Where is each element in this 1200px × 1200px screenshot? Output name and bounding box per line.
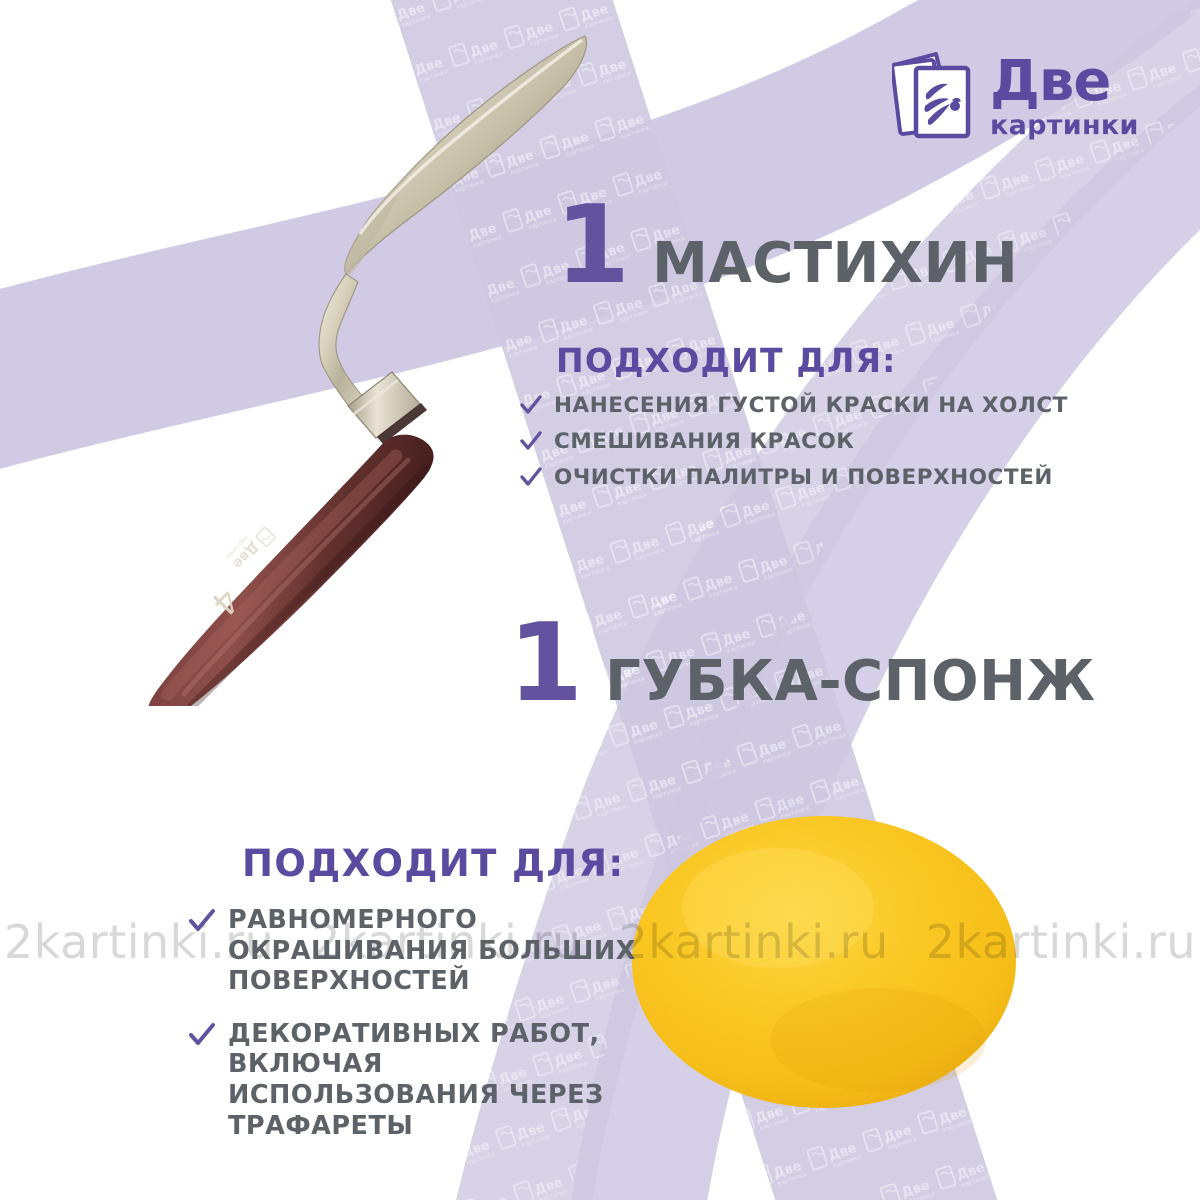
- check-icon: [520, 431, 542, 453]
- list-item: НАНЕСЕНИЯ ГУСТОЙ КРАСКИ НА ХОЛСТ: [520, 394, 1180, 419]
- list-item: ОЧИСТКИ ПАЛИТРЫ И ПОВЕРХНОСТЕЙ: [520, 466, 1180, 491]
- sponge-photo: [628, 812, 1020, 1112]
- poster-canvas: Две картинки: [0, 0, 1200, 1200]
- two-cards-brush-icon: [892, 50, 976, 142]
- brand-title: Две: [990, 54, 1139, 110]
- list-item: СМЕШИВАНИЯ КРАСОК: [520, 430, 1180, 455]
- sponge-shadow: [770, 988, 986, 1092]
- section-heading: 1 МАСТИХИН: [555, 196, 1180, 295]
- list-item-label: СМЕШИВАНИЯ КРАСОК: [554, 430, 854, 455]
- section-sponge-benefits: ПОДХОДИТ ДЛЯ: РАВНОМЕРНОГО ОКРАШИВАНИЯ Б…: [188, 842, 658, 1163]
- section-number: 1: [508, 614, 583, 713]
- section-title: ГУБКА-СПОНЖ: [605, 654, 1095, 710]
- section-mastikhin: 1 МАСТИХИН ПОДХОДИТ ДЛЯ: НАНЕСЕНИЯ ГУСТО…: [520, 196, 1180, 502]
- brand-subtitle: картинки: [990, 112, 1139, 139]
- check-icon: [188, 1022, 216, 1050]
- suitable-for-label: ПОДХОДИТ ДЛЯ:: [242, 842, 658, 885]
- brand-logo: Две картинки: [892, 50, 1139, 142]
- list-item-label: РАВНОМЕРНОГО ОКРАШИВАНИЯ БОЛЬШИХ ПОВЕРХН…: [228, 905, 658, 997]
- check-icon: [188, 908, 216, 936]
- list-item-label: НАНЕСЕНИЯ ГУСТОЙ КРАСКИ НА ХОЛСТ: [554, 394, 1068, 419]
- section-number: 1: [555, 196, 630, 295]
- knife-ferrule: [348, 372, 420, 438]
- section-heading: 1 ГУБКА-СПОНЖ: [508, 614, 1140, 713]
- section-title: МАСТИХИН: [652, 236, 1018, 292]
- section-sponge-heading: 1 ГУБКА-СПОНЖ: [500, 614, 1140, 713]
- check-icon: [520, 395, 542, 417]
- check-icon: [520, 467, 542, 489]
- sponge-highlight: [682, 848, 874, 968]
- list-item: РАВНОМЕРНОГО ОКРАШИВАНИЯ БОЛЬШИХ ПОВЕРХН…: [188, 905, 658, 997]
- suitable-for-label: ПОДХОДИТ ДЛЯ:: [556, 341, 1180, 380]
- list-item-label: ОЧИСТКИ ПАЛИТРЫ И ПОВЕРХНОСТЕЙ: [554, 466, 1053, 491]
- benefit-list: НАНЕСЕНИЯ ГУСТОЙ КРАСКИ НА ХОЛСТ СМЕШИВА…: [520, 394, 1180, 490]
- list-item-label: ДЕКОРАТИВНЫХ РАБОТ, ВКЛЮЧАЯ ИСПОЛЬЗОВАНИ…: [228, 1019, 658, 1141]
- list-item: ДЕКОРАТИВНЫХ РАБОТ, ВКЛЮЧАЯ ИСПОЛЬЗОВАНИ…: [188, 1019, 658, 1141]
- benefit-list: РАВНОМЕРНОГО ОКРАШИВАНИЯ БОЛЬШИХ ПОВЕРХН…: [188, 905, 658, 1141]
- knife-shaft: [319, 274, 364, 408]
